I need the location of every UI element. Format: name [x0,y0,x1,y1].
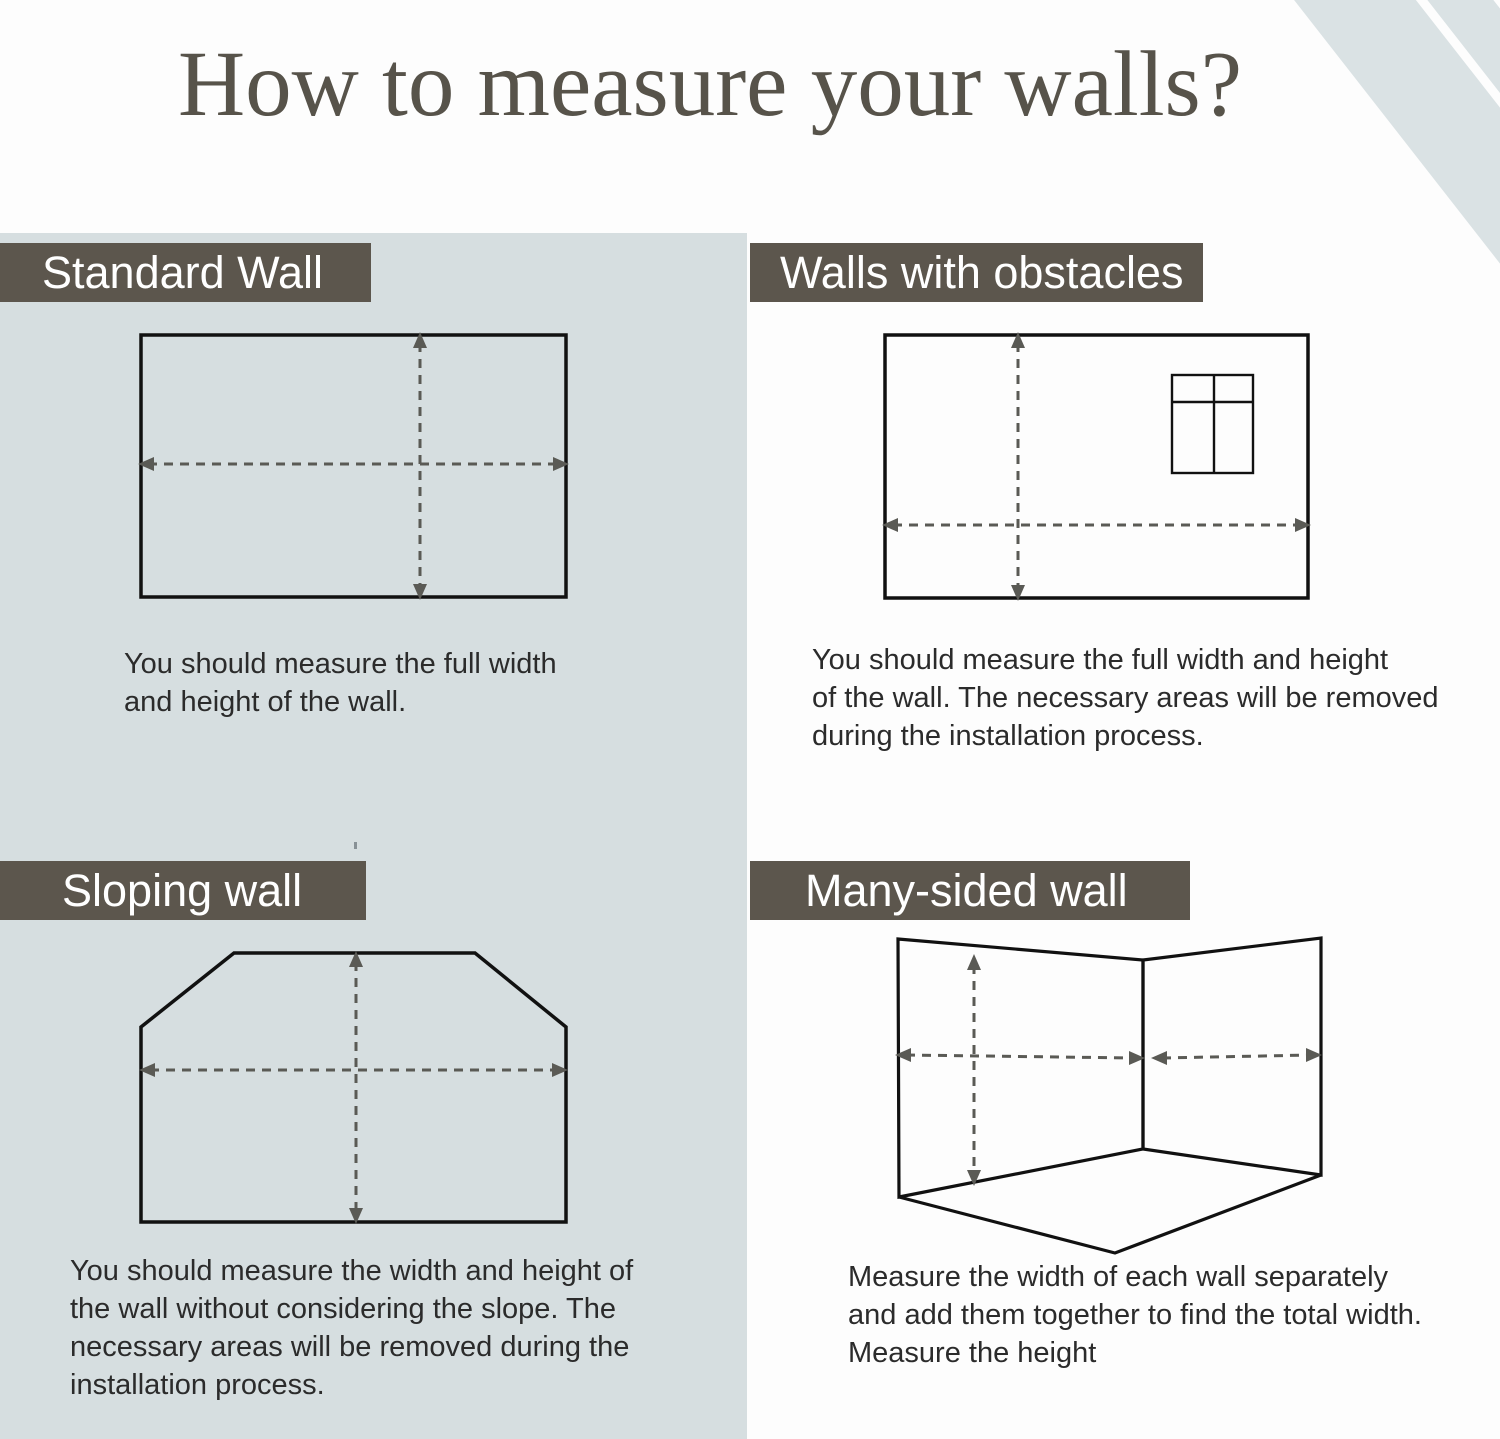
section-heading-many-sided-wall: Many-sided wall [750,861,1190,920]
height-measure-arrow [413,332,427,600]
height-measure-arrow [1011,332,1025,601]
corner-walls-outline [898,938,1321,1253]
caption-walls-with-obstacles: You should measure the full width and he… [812,641,1472,755]
caption-many-sided-wall: Measure the width of each wall separatel… [848,1258,1488,1372]
page-title: How to measure your walls? [0,36,1420,134]
caption-standard-wall: You should measure the full width and he… [124,645,644,721]
section-heading-sloping-wall: Sloping wall [0,861,366,920]
width-measure-arrow-right-wall [1151,1048,1322,1065]
width-measure-arrow [882,518,1311,532]
section-heading-walls-with-obstacles: Walls with obstacles [750,243,1203,302]
diagram-many-sided-wall [870,925,1370,1275]
stray-speck-artifact [354,842,357,849]
height-measure-arrow [349,951,363,1224]
diagram-standard-wall [120,315,620,630]
window-icon [1172,375,1253,473]
sloped-wall-outline [141,953,566,1222]
diagram-walls-with-obstacles [860,315,1360,630]
width-measure-arrow [138,457,569,471]
width-measure-arrow [139,1063,568,1077]
diagram-sloping-wall [120,930,620,1255]
wall-outline-rect [141,335,566,597]
caption-sloping-wall: You should measure the width and height … [70,1252,690,1404]
height-measure-arrow [967,954,981,1186]
section-heading-standard-wall: Standard Wall [0,243,371,302]
infographic-page: How to measure your walls? Standard Wall… [0,0,1500,1439]
width-measure-arrow-left-wall [895,1048,1145,1065]
